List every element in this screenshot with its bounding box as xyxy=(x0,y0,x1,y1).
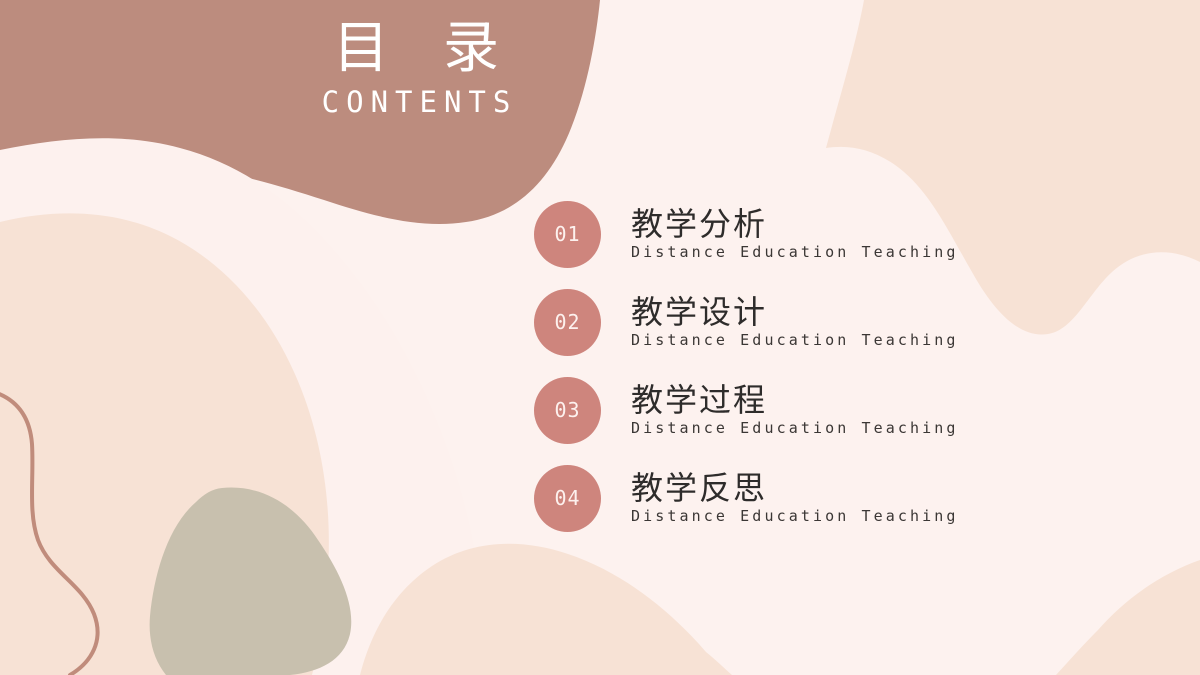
toc-text-group: 教学过程 Distance Education Teaching xyxy=(631,383,959,438)
toc-item-02[interactable]: 02 教学设计 Distance Education Teaching xyxy=(534,278,959,366)
toc-item-subtitle: Distance Education Teaching xyxy=(631,243,959,261)
toc-text-group: 教学分析 Distance Education Teaching xyxy=(631,207,959,262)
toc-item-subtitle: Distance Education Teaching xyxy=(631,419,959,437)
toc-item-title: 教学过程 xyxy=(631,383,959,419)
toc-number-badge: 04 xyxy=(534,465,601,532)
page-title-en: CONTENTS xyxy=(236,85,596,119)
contents-list: 01 教学分析 Distance Education Teaching 02 教… xyxy=(534,190,959,542)
toc-number-badge: 03 xyxy=(534,377,601,444)
toc-item-04[interactable]: 04 教学反思 Distance Education Teaching xyxy=(534,454,959,542)
page-title-cn: 目 录 xyxy=(236,18,596,81)
page-title: 目 录 CONTENTS xyxy=(236,18,596,119)
toc-item-subtitle: Distance Education Teaching xyxy=(631,507,959,525)
toc-item-subtitle: Distance Education Teaching xyxy=(631,331,959,349)
toc-text-group: 教学设计 Distance Education Teaching xyxy=(631,295,959,350)
presentation-slide: 目 录 CONTENTS 01 教学分析 Distance Education … xyxy=(0,0,1200,675)
toc-item-title: 教学设计 xyxy=(631,295,959,331)
toc-item-01[interactable]: 01 教学分析 Distance Education Teaching xyxy=(534,190,959,278)
toc-item-title: 教学分析 xyxy=(631,207,959,243)
toc-number-badge: 01 xyxy=(534,201,601,268)
toc-number-badge: 02 xyxy=(534,289,601,356)
toc-text-group: 教学反思 Distance Education Teaching xyxy=(631,471,959,526)
toc-item-03[interactable]: 03 教学过程 Distance Education Teaching xyxy=(534,366,959,454)
toc-item-title: 教学反思 xyxy=(631,471,959,507)
